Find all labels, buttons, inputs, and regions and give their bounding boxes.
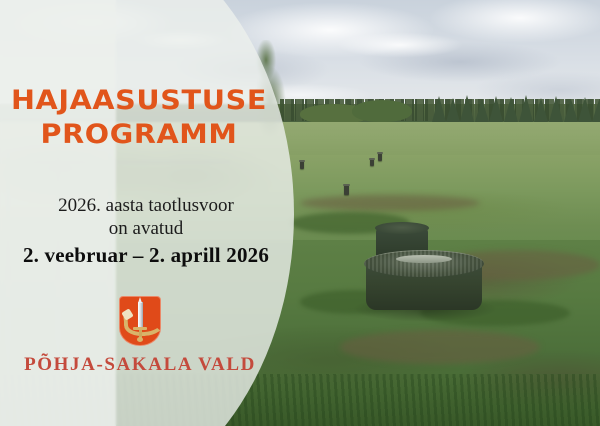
- poster-canvas: HAJAASUSTUSE PROGRAMM 2026. aasta taotlu…: [0, 0, 600, 426]
- poster-headline: HAJAASUSTUSE PROGRAMM: [0, 84, 286, 152]
- subtext-line-1: 2026. aasta taotlusvoor: [0, 194, 292, 217]
- sword-icon: [138, 302, 143, 328]
- soil-patch: [300, 195, 480, 211]
- municipality-name: PÕHJA-SAKALA VALD: [0, 354, 280, 376]
- poster-content: HAJAASUSTUSE PROGRAMM 2026. aasta taotlu…: [0, 0, 300, 426]
- field-marker-post: [300, 160, 304, 169]
- spruce-row: [430, 94, 600, 122]
- birch-clump-2: [352, 100, 412, 122]
- poster-subtext: 2026. aasta taotlusvoor on avatud: [0, 194, 292, 240]
- headline-line-1: HAJAASUSTUSE: [0, 84, 286, 118]
- headline-line-2: PROGRAMM: [0, 118, 286, 152]
- application-period-dates: 2. veebruar – 2. aprill 2026: [0, 243, 292, 268]
- sword-pommel-icon: [137, 337, 143, 342]
- coat-of-arms-icon: [119, 296, 161, 346]
- septic-tank-lid-large: [366, 262, 482, 310]
- field-marker-post: [344, 184, 349, 195]
- subtext-line-2: on avatud: [0, 217, 292, 240]
- municipality-logo: PÕHJA-SAKALA VALD: [0, 296, 280, 376]
- soil-patch: [340, 330, 540, 364]
- field-marker-post: [378, 152, 382, 161]
- field-marker-post: [370, 158, 374, 166]
